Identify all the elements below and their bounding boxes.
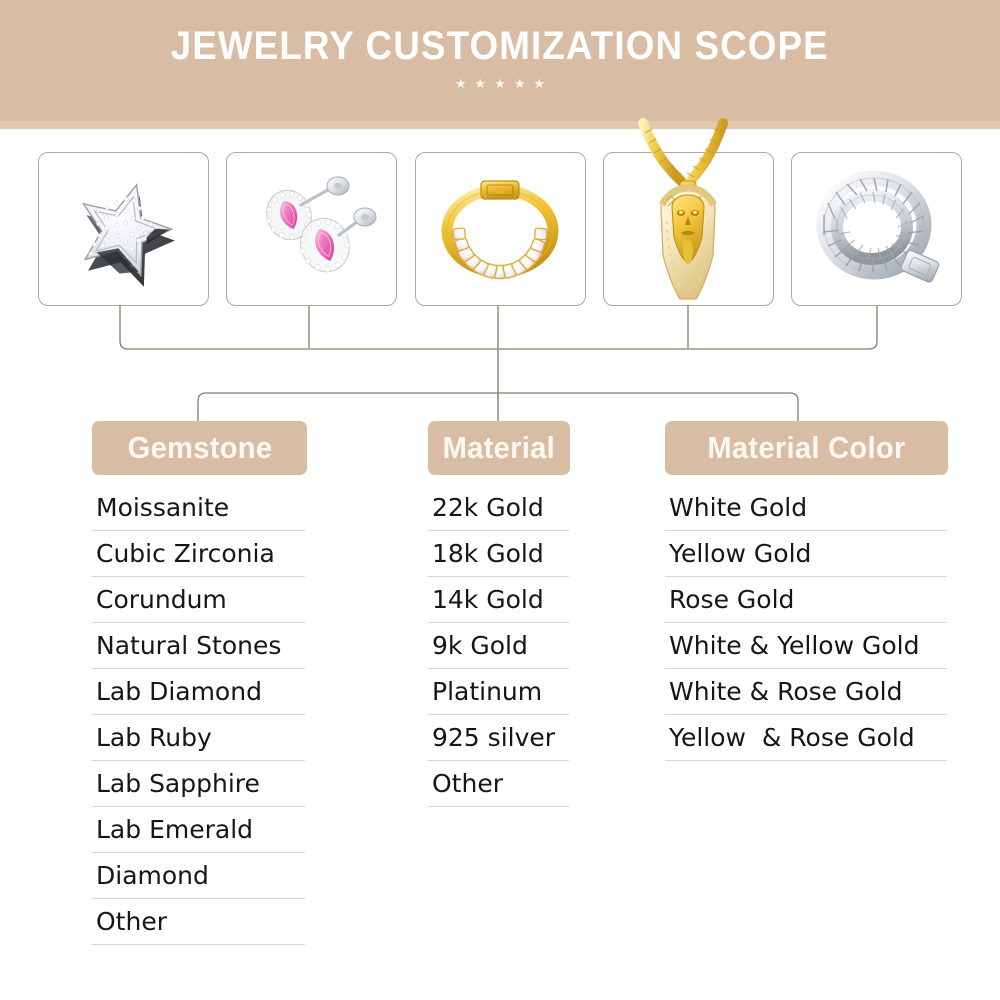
category-header-label: Material Color xyxy=(707,431,905,465)
product-card-jesus-piece-pendant[interactable] xyxy=(603,152,774,306)
connector-bus-bottom xyxy=(198,393,798,421)
gold-tennis-bracelet-icon xyxy=(425,159,575,299)
connector-bus-top xyxy=(120,341,877,349)
category-header-label: Material xyxy=(443,431,555,465)
star-icon: ★ xyxy=(455,78,467,91)
list-item[interactable]: Lab Ruby xyxy=(92,715,305,761)
list-item[interactable]: Lab Emerald xyxy=(92,807,305,853)
option-list-material-color: White Gold Yellow Gold Rose Gold White &… xyxy=(665,485,947,761)
star-icon: ★ xyxy=(533,78,545,91)
option-list-gemstone: Moissanite Cubic Zirconia Corundum Natur… xyxy=(92,485,305,945)
category-column-material-color: Material Color White Gold Yellow Gold Ro… xyxy=(665,421,948,761)
list-item[interactable]: Corundum xyxy=(92,577,305,623)
star-icon: ★ xyxy=(475,78,487,91)
silver-cuban-link-chain-icon xyxy=(802,159,952,299)
list-item[interactable]: Rose Gold xyxy=(665,577,947,623)
list-item[interactable]: White & Yellow Gold xyxy=(665,623,947,669)
page-title: JEWELRY CUSTOMIZATION SCOPE xyxy=(171,22,829,70)
pink-pear-stud-earrings-icon xyxy=(237,159,387,299)
category-header-label: Gemstone xyxy=(127,431,272,465)
star-rating-decoration: ★ ★ ★ ★ ★ xyxy=(455,78,545,91)
list-item[interactable]: 925 silver xyxy=(428,715,569,761)
product-card-gold-tennis-bracelet[interactable] xyxy=(415,152,586,306)
list-item[interactable]: Lab Sapphire xyxy=(92,761,305,807)
category-column-gemstone: Gemstone Moissanite Cubic Zirconia Corun… xyxy=(92,421,307,945)
list-item[interactable]: White Gold xyxy=(665,485,947,531)
list-item[interactable]: Platinum xyxy=(428,669,569,715)
jesus-piece-pendant-necklace-icon xyxy=(613,159,763,299)
header-bottom-strip xyxy=(0,121,1000,129)
list-item[interactable]: 14k Gold xyxy=(428,577,569,623)
list-item[interactable]: 22k Gold xyxy=(428,485,569,531)
category-header-material[interactable]: Material xyxy=(428,421,570,475)
connector-diagram xyxy=(0,300,1000,430)
list-item[interactable]: Lab Diamond xyxy=(92,669,305,715)
list-item[interactable]: Yellow Gold xyxy=(665,531,947,577)
star-icon: ★ xyxy=(494,78,506,91)
product-card-pink-stud-earrings[interactable] xyxy=(226,152,397,306)
option-list-material: 22k Gold 18k Gold 14k Gold 9k Gold Plati… xyxy=(428,485,569,807)
category-header-material-color[interactable]: Material Color xyxy=(665,421,948,475)
diamond-star-ring-icon xyxy=(49,159,199,299)
list-item[interactable]: Cubic Zirconia xyxy=(92,531,305,577)
header-banner: JEWELRY CUSTOMIZATION SCOPE ★ ★ ★ ★ ★ xyxy=(0,0,1000,121)
list-item[interactable]: Natural Stones xyxy=(92,623,305,669)
list-item[interactable]: 9k Gold xyxy=(428,623,569,669)
list-item[interactable]: Moissanite xyxy=(92,485,305,531)
star-icon: ★ xyxy=(514,78,526,91)
list-item[interactable]: Other xyxy=(92,899,305,945)
product-card-row xyxy=(38,152,962,306)
list-item[interactable]: 18k Gold xyxy=(428,531,569,577)
infographic-page: JEWELRY CUSTOMIZATION SCOPE ★ ★ ★ ★ ★ xyxy=(0,0,1000,1000)
category-header-gemstone[interactable]: Gemstone xyxy=(92,421,307,475)
product-card-silver-cuban-chain[interactable] xyxy=(791,152,962,306)
list-item[interactable]: Yellow & Rose Gold xyxy=(665,715,947,761)
list-item[interactable]: White & Rose Gold xyxy=(665,669,947,715)
product-card-diamond-star-ring[interactable] xyxy=(38,152,209,306)
list-item[interactable]: Other xyxy=(428,761,569,807)
category-column-material: Material 22k Gold 18k Gold 14k Gold 9k G… xyxy=(428,421,570,807)
list-item[interactable]: Diamond xyxy=(92,853,305,899)
